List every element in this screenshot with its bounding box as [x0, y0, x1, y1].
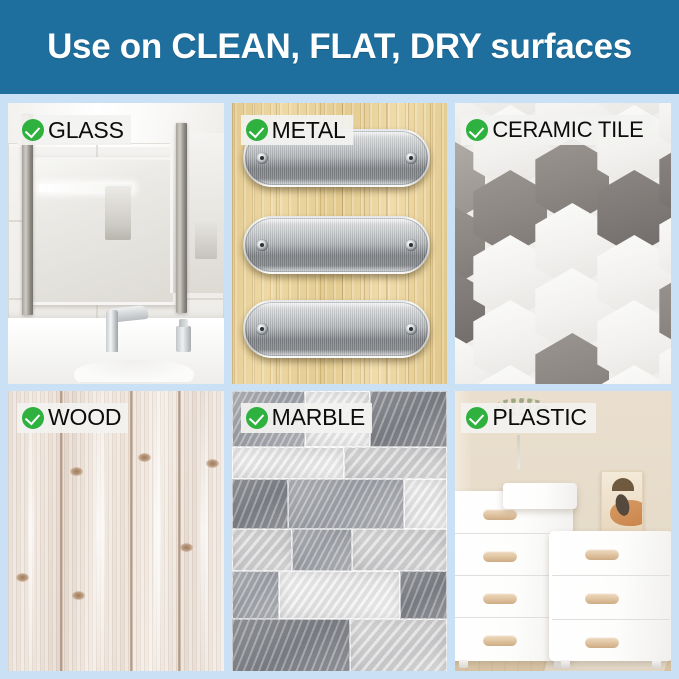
marble-course [232, 529, 448, 571]
metal-plate [243, 300, 430, 358]
panel-label: WOOD [48, 406, 121, 429]
label-badge-wood: WOOD [17, 403, 128, 433]
marble-tile [232, 619, 351, 672]
plastic-unit-top-back [503, 483, 577, 509]
wood-knot [138, 453, 151, 462]
wood-knot [206, 459, 219, 468]
page-title: Use on CLEAN, FLAT, DRY surfaces [47, 27, 632, 67]
drawer-handle [483, 509, 517, 520]
panel-label: GLASS [48, 119, 124, 142]
panel-label: METAL [272, 119, 346, 142]
metal-plate [243, 216, 430, 274]
drawer-handle [585, 549, 619, 560]
marble-tile [232, 529, 292, 571]
marble-tile [279, 571, 400, 619]
panel-wood[interactable]: WOOD [8, 391, 224, 672]
drawer-divider [552, 619, 670, 620]
panel-ceramic-tile[interactable]: CERAMIC TILE [455, 103, 671, 384]
screw-icon [405, 152, 417, 164]
marble-tile [232, 571, 279, 619]
label-badge-plastic: PLASTIC [461, 403, 595, 433]
drawer-divider [552, 575, 670, 576]
plastic-drawer-unit-front [549, 531, 671, 661]
drawer-handle [483, 593, 517, 604]
mirror-large [28, 157, 176, 305]
drawer-handle [585, 593, 619, 604]
plank-seam [178, 391, 181, 672]
marble-course [232, 447, 448, 479]
drawer-handle [483, 551, 517, 562]
marble-tile [292, 529, 352, 571]
green-check-circle-icon [246, 407, 268, 429]
label-badge-ceramic-tile: CERAMIC TILE [461, 115, 652, 145]
marble-course [232, 619, 448, 672]
drawer-handle [483, 635, 517, 646]
green-check-circle-icon [22, 407, 44, 429]
screw-icon [405, 323, 417, 335]
surface-panel-grid: GLASS METAL [0, 94, 679, 679]
marble-tile [404, 479, 447, 529]
marble-tile [370, 391, 448, 447]
wood-knot [16, 573, 29, 582]
marble-tile [350, 619, 447, 672]
plant-stem [517, 435, 520, 469]
wood-grain [96, 391, 105, 672]
wood-knot [72, 591, 85, 600]
label-badge-metal: METAL [241, 115, 353, 145]
panel-label: PLASTIC [492, 406, 586, 429]
cabinet-leg [652, 660, 661, 668]
picture-arch-shape [612, 478, 634, 491]
panel-glass[interactable]: GLASS [8, 103, 224, 384]
wood-grain [200, 391, 208, 672]
wood-knot [180, 543, 193, 552]
wood-grain [28, 391, 34, 672]
panel-metal[interactable]: METAL [232, 103, 448, 384]
panel-marble[interactable]: MARBLE [232, 391, 448, 672]
soap-dispenser [176, 326, 191, 352]
marble-tile [400, 571, 447, 619]
plank-seam [130, 391, 133, 672]
panel-plastic[interactable]: PLASTIC [455, 391, 671, 672]
marble-tile [232, 479, 288, 529]
screw-icon [256, 152, 268, 164]
mirror-post-center [176, 123, 187, 313]
marble-tile [344, 447, 448, 479]
wood-grain [154, 391, 161, 672]
label-badge-marble: MARBLE [241, 403, 372, 433]
cabinet-leg [561, 660, 570, 668]
screw-icon [256, 239, 268, 251]
panel-label: MARBLE [272, 406, 365, 429]
green-check-circle-icon [246, 119, 268, 141]
faucet-body [106, 310, 118, 352]
sink-basin [74, 360, 194, 382]
marble-course [232, 571, 448, 619]
drawer-handle [585, 637, 619, 648]
green-check-circle-icon [22, 119, 44, 141]
marble-course [232, 479, 448, 529]
screw-icon [405, 239, 417, 251]
marble-tile [288, 479, 404, 529]
green-check-circle-icon [466, 407, 488, 429]
framed-picture [601, 471, 643, 533]
marble-tile [232, 447, 344, 479]
green-check-circle-icon [466, 119, 488, 141]
cabinet-leg [459, 660, 468, 668]
label-badge-glass: GLASS [17, 115, 131, 145]
infographic-page: Use on CLEAN, FLAT, DRY surfaces GLASS [0, 0, 679, 679]
plank-seam [60, 391, 63, 672]
panel-label: CERAMIC TILE [492, 119, 643, 141]
screw-icon [256, 323, 268, 335]
mirror-post-left [22, 115, 33, 315]
wood-knot [70, 467, 83, 476]
header-banner: Use on CLEAN, FLAT, DRY surfaces [0, 0, 679, 94]
marble-tile [352, 529, 447, 571]
